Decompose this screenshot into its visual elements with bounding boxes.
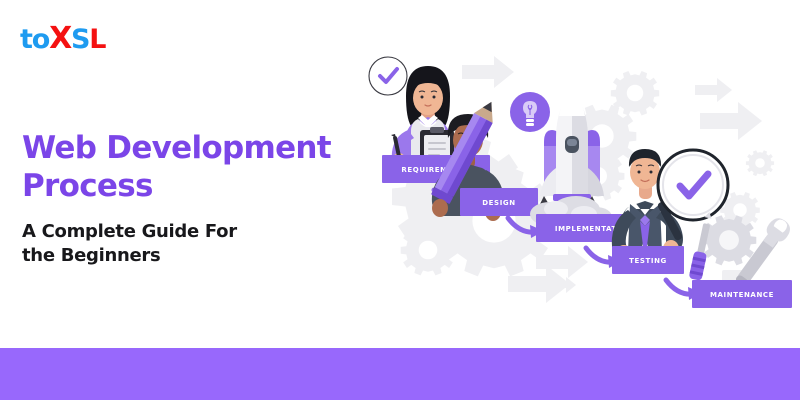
subhead-line-1: A Complete Guide For — [22, 221, 237, 242]
banner-root: toXSL Web Development Process A Complete… — [0, 0, 800, 400]
tools-group — [689, 211, 794, 291]
logo-segment-to: to — [20, 24, 49, 55]
gear-icon — [746, 150, 774, 176]
stage-label-design[interactable]: DESIGN — [460, 188, 538, 216]
headline-line-2: Process — [22, 168, 153, 204]
page-subtitle: A Complete Guide For the Beginners — [22, 220, 342, 270]
arrow-right-icon — [700, 102, 762, 140]
headline-line-1: Web Development — [22, 130, 331, 166]
arrow-right-icon — [462, 56, 514, 88]
toxsl-logo[interactable]: toXSL — [20, 24, 105, 54]
stage-label-testing-text: TESTING — [629, 257, 667, 265]
subhead-line-2: the Beginners — [22, 245, 160, 266]
lightbulb-icon — [507, 91, 553, 137]
stage-label-maintenance-text: MAINTENANCE — [710, 291, 774, 299]
page-title: Web Development Process — [22, 130, 342, 206]
stage-label-design-text: DESIGN — [482, 199, 515, 207]
process-illustration: REQUIREMENTS — [340, 18, 800, 348]
logo-segment-l: L — [89, 24, 105, 55]
stage-label-testing[interactable]: TESTING — [612, 246, 684, 274]
logo-segment-s: S — [71, 24, 89, 55]
bottom-accent-bar — [0, 348, 800, 400]
stage-label-maintenance[interactable]: MAINTENANCE — [692, 280, 792, 308]
check-badge-icon — [369, 57, 407, 95]
logo-segment-x: X — [49, 21, 71, 56]
hero-copy-block: Web Development Process A Complete Guide… — [22, 130, 342, 269]
arrow-right-icon — [695, 78, 732, 102]
